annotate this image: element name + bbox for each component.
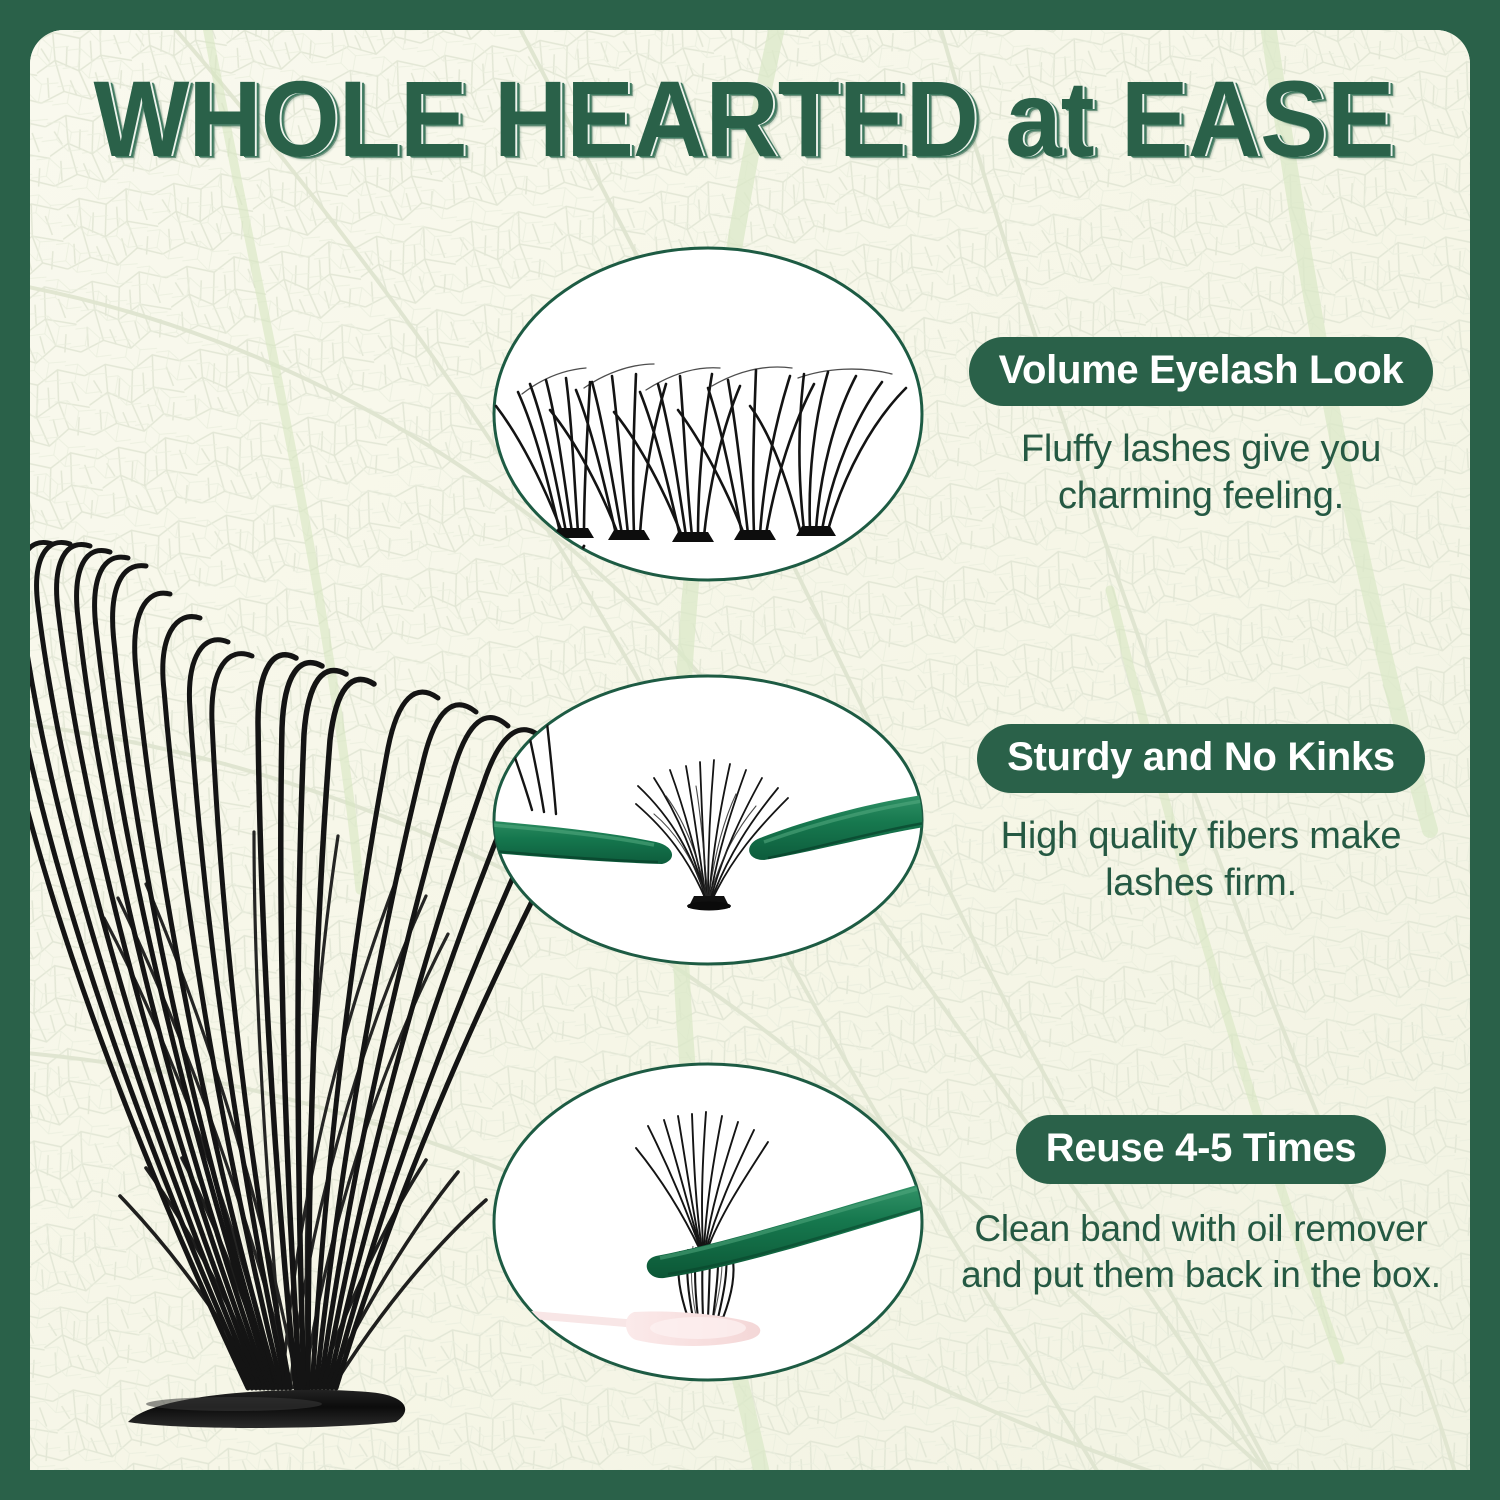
feature-description-1: Fluffy lashes give you charming feeling. [955, 426, 1447, 520]
feature-block-3: Reuse 4-5 Times Clean band with oil remo… [955, 1115, 1447, 1298]
feature-badge-2: Sturdy and No Kinks [977, 724, 1425, 793]
feature-badge-1: Volume Eyelash Look [969, 337, 1434, 406]
feature-description-3: Clean band with oil remover and put them… [955, 1206, 1447, 1298]
poster-title: WHOLE HEARTED at EASE [94, 65, 1394, 173]
poster-title-container: WHOLE HEARTED at EASE [48, 58, 1440, 180]
content-panel: Volume Eyelash Look Fluffy lashes give y… [30, 30, 1470, 1470]
product-infographic-poster: Volume Eyelash Look Fluffy lashes give y… [0, 0, 1500, 1500]
feature-image-oval-3 [488, 1060, 928, 1390]
feature-image-oval-1 [488, 242, 928, 587]
large-lash-fan-illustration [30, 270, 556, 1430]
feature-description-2: High quality fibers make lashes firm. [955, 813, 1447, 907]
feature-image-oval-2 [488, 670, 928, 970]
feature-block-1: Volume Eyelash Look Fluffy lashes give y… [955, 337, 1447, 520]
feature-badge-3: Reuse 4-5 Times [1016, 1115, 1386, 1184]
feature-block-2: Sturdy and No Kinks High quality fibers … [955, 724, 1447, 907]
